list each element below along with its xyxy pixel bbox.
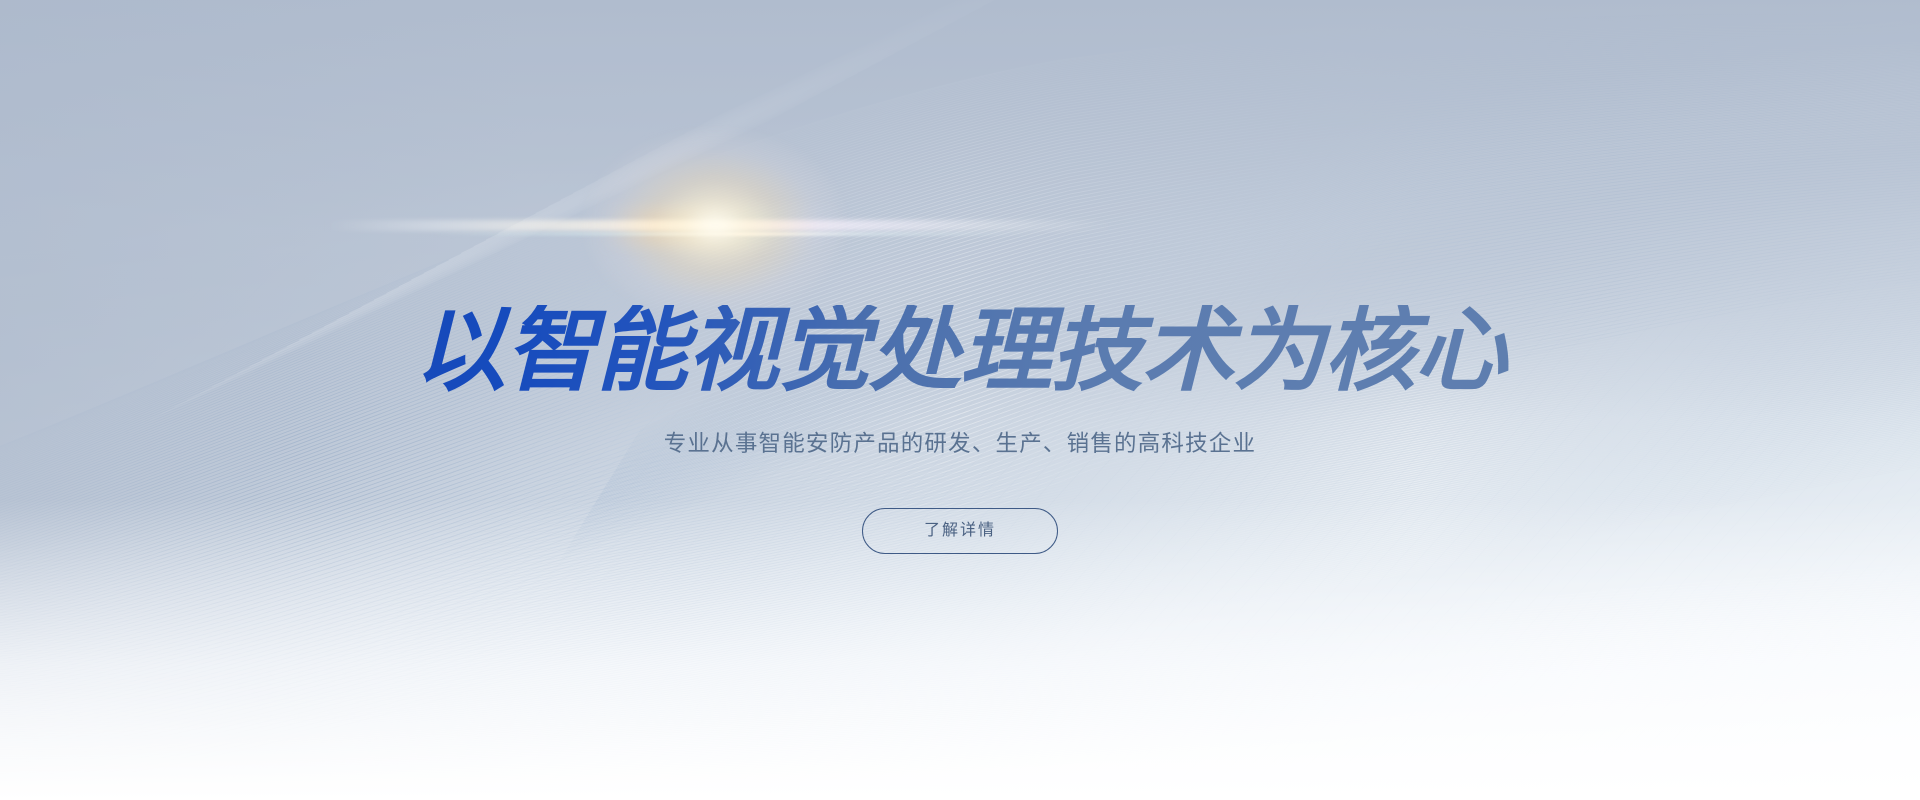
hero-banner: 以智能视觉处理技术为核心 专业从事智能安防产品的研发、生产、销售的高科技企业 了… <box>0 0 1920 800</box>
cta-container: 了解详情 <box>0 508 1920 554</box>
page-title: 以智能视觉处理技术为核心 <box>0 305 1920 397</box>
hero-content: 以智能视觉处理技术为核心 专业从事智能安防产品的研发、生产、销售的高科技企业 了… <box>0 0 1920 800</box>
learn-more-button[interactable]: 了解详情 <box>862 508 1058 554</box>
page-subtitle: 专业从事智能安防产品的研发、生产、销售的高科技企业 <box>0 428 1920 460</box>
